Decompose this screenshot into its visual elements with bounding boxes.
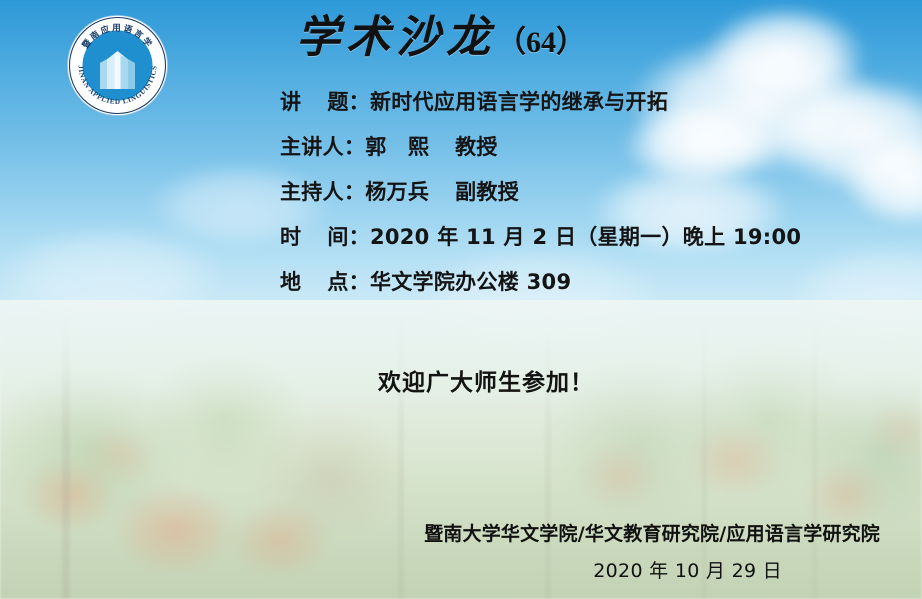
mist-overlay bbox=[0, 300, 922, 599]
speaker-label: 主讲人 bbox=[280, 125, 344, 170]
topic-label-tail: 题 bbox=[327, 80, 348, 125]
detail-row-time: 时间：2020 年 11 月 2 日（星期一）晚上 19:00 bbox=[280, 215, 900, 260]
title-main: 学术沙龙 bbox=[296, 12, 496, 63]
speaker-title: 教授 bbox=[455, 135, 498, 159]
page-title: 学术沙龙（64） bbox=[296, 12, 586, 69]
title-issue-number: （64） bbox=[496, 26, 586, 59]
speaker-colon: ： bbox=[344, 135, 365, 159]
seminar-poster: 暨南应用语言学 JINAN APPLIED LINGUISTICS 学术沙龙（6… bbox=[0, 0, 922, 599]
host-label: 主持人 bbox=[280, 170, 344, 215]
time-label: 时 bbox=[280, 215, 301, 260]
welcome-message: 欢迎广大师生参加！ bbox=[0, 363, 922, 397]
seminar-details: 讲题：新时代应用语言学的继承与开拓 主讲人：郭 熙教授 主持人：杨万兵副教授 时… bbox=[280, 80, 900, 305]
location-colon: ： bbox=[349, 270, 370, 294]
topic-colon: ： bbox=[349, 90, 370, 114]
organizer-line: 暨南大学华文学院/华文教育研究院/应用语言学研究院 bbox=[0, 519, 922, 546]
detail-row-topic: 讲题：新时代应用语言学的继承与开拓 bbox=[280, 80, 900, 125]
institution-logo: 暨南应用语言学 JINAN APPLIED LINGUISTICS bbox=[67, 15, 168, 116]
time-value: 2020 年 11 月 2 日（星期一）晚上 19:00 bbox=[370, 225, 801, 249]
detail-row-location: 地点：华文学院办公楼 309 bbox=[280, 260, 900, 305]
speaker-value: 郭 熙 bbox=[365, 135, 429, 159]
issue-date: 2020 年 10 月 29 日 bbox=[0, 556, 922, 583]
host-title: 副教授 bbox=[455, 180, 519, 204]
topic-value: 新时代应用语言学的继承与开拓 bbox=[370, 90, 668, 114]
detail-row-speaker: 主讲人：郭 熙教授 bbox=[280, 125, 900, 170]
location-value: 华文学院办公楼 309 bbox=[370, 270, 571, 294]
host-value: 杨万兵 bbox=[365, 180, 429, 204]
location-label: 地 bbox=[280, 260, 301, 305]
host-colon: ： bbox=[344, 180, 365, 204]
detail-row-host: 主持人：杨万兵副教授 bbox=[280, 170, 900, 215]
time-label-tail: 间 bbox=[327, 215, 348, 260]
time-colon: ： bbox=[349, 225, 370, 249]
topic-label: 讲 bbox=[280, 80, 301, 125]
location-label-tail: 点 bbox=[327, 260, 348, 305]
